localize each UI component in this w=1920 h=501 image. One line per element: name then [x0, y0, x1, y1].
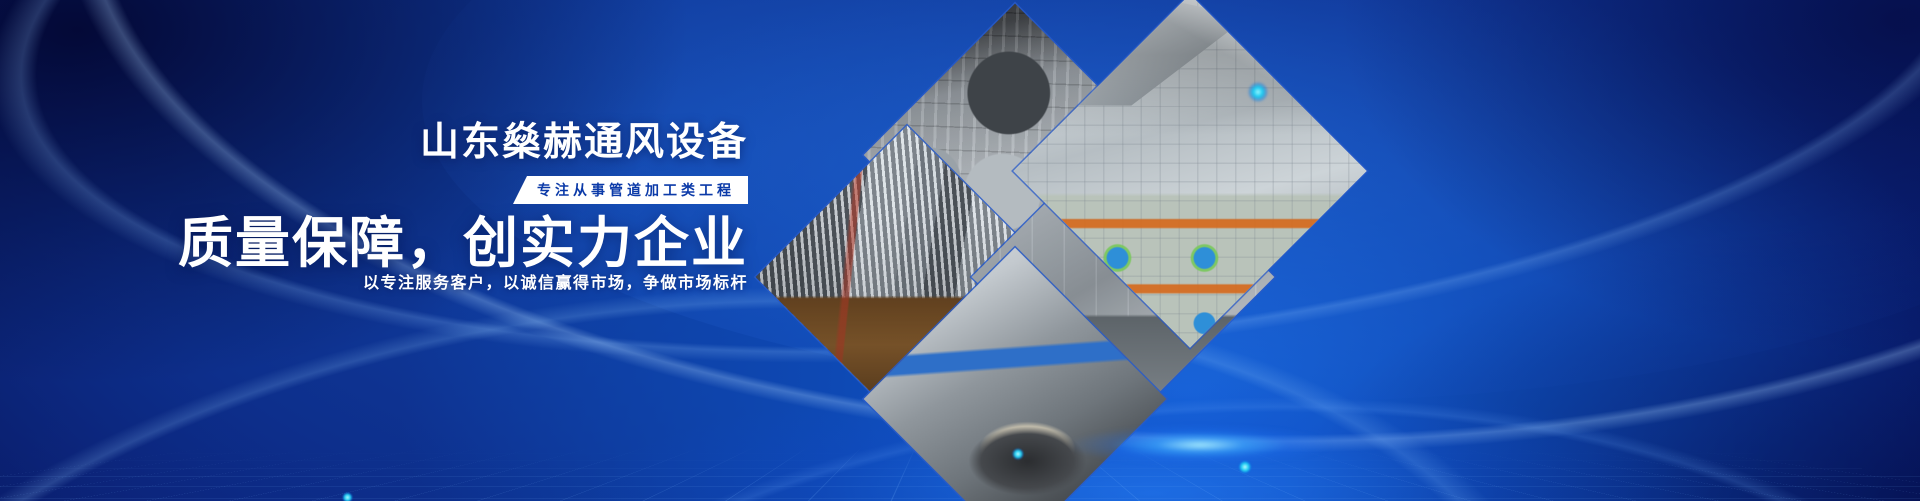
light-dot-3: [1012, 448, 1024, 460]
collage-base-glow: [1010, 400, 1390, 490]
hero-subtagline: 以专注服务客户，以诚信赢得市场，争做市场标杆: [363, 276, 748, 292]
hero-copy-block: 山东燊赫通风设备 专注从事管道加工类工程 质量保障，创实力企业 以专注服务客户，…: [0, 0, 800, 501]
hero-banner: 山东燊赫通风设备 专注从事管道加工类工程 质量保障，创实力企业 以专注服务客户，…: [0, 0, 1920, 501]
light-dot-1: [1248, 82, 1268, 102]
ribbon-label: 专注从事管道加工类工程: [537, 183, 735, 197]
tagline-ribbon: 专注从事管道加工类工程: [513, 176, 748, 204]
hero-headline: 质量保障，创实力企业: [178, 210, 748, 277]
company-title: 山东燊赫通风设备: [420, 123, 748, 162]
light-dot-2: [1238, 460, 1252, 474]
